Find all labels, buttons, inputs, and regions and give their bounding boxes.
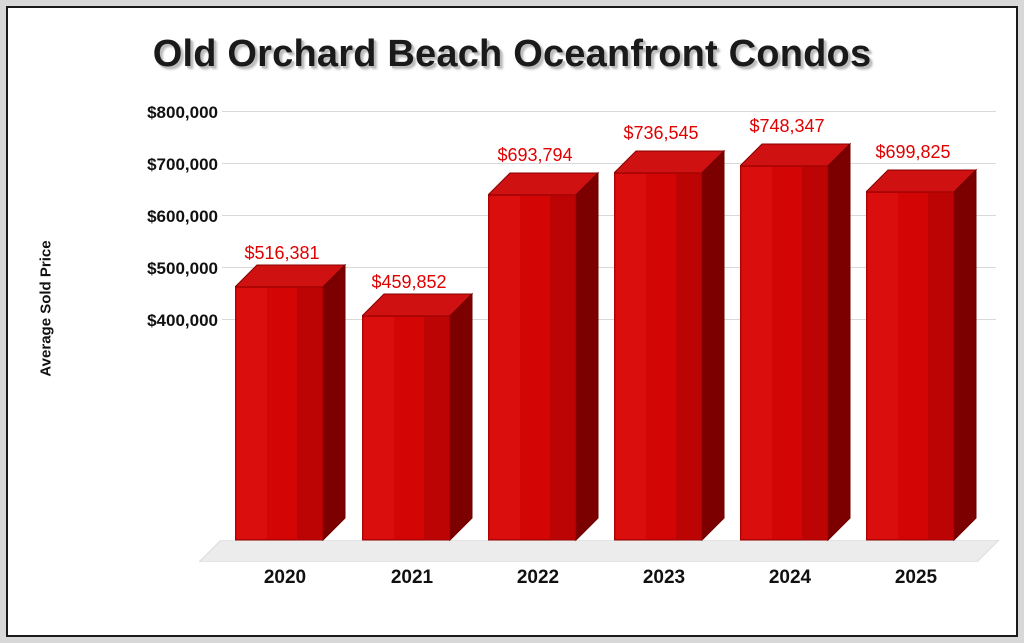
y-axis-title: Average Sold Price bbox=[38, 209, 55, 409]
x-tick-label-2022: 2022 bbox=[478, 567, 598, 589]
x-tick-label-2023: 2023 bbox=[604, 567, 724, 589]
y-tick-label-800000: $800,000 bbox=[108, 103, 218, 123]
page-title: Old Orchard Beach Oceanfront Condos bbox=[0, 33, 1024, 76]
chart-page: Old Orchard Beach Oceanfront Condos Aver… bbox=[0, 0, 1024, 643]
bar-label-2021: $459,852 bbox=[349, 272, 469, 293]
x-tick-label-2025: 2025 bbox=[856, 567, 976, 589]
y-tick-label-400000: $400,000 bbox=[108, 311, 218, 331]
bar-2024-shape[interactable] bbox=[740, 141, 860, 571]
bar-label-2020: $516,381 bbox=[222, 243, 342, 264]
bar-label-2024: $748,347 bbox=[727, 116, 847, 137]
x-tick-label-2024: 2024 bbox=[730, 567, 850, 589]
x-tick-label-2021: 2021 bbox=[352, 567, 472, 589]
gridline-800000 bbox=[222, 111, 996, 112]
bar-2023-shape[interactable] bbox=[614, 148, 734, 568]
bar-label-2022: $693,794 bbox=[475, 145, 595, 166]
gridline-700000 bbox=[222, 163, 996, 164]
y-tick-label-600000: $600,000 bbox=[108, 207, 218, 227]
bar-2025-shape[interactable] bbox=[866, 167, 986, 572]
bar-2020-shape[interactable] bbox=[235, 262, 355, 572]
bar-label-2023: $736,545 bbox=[601, 123, 721, 144]
bar-2022-shape[interactable] bbox=[488, 170, 608, 570]
y-tick-label-500000: $500,000 bbox=[108, 259, 218, 279]
bar-2021-shape[interactable] bbox=[362, 291, 482, 601]
bar-label-2025: $699,825 bbox=[853, 142, 973, 163]
y-tick-label-700000: $700,000 bbox=[108, 155, 218, 175]
x-tick-label-2020: 2020 bbox=[225, 567, 345, 589]
